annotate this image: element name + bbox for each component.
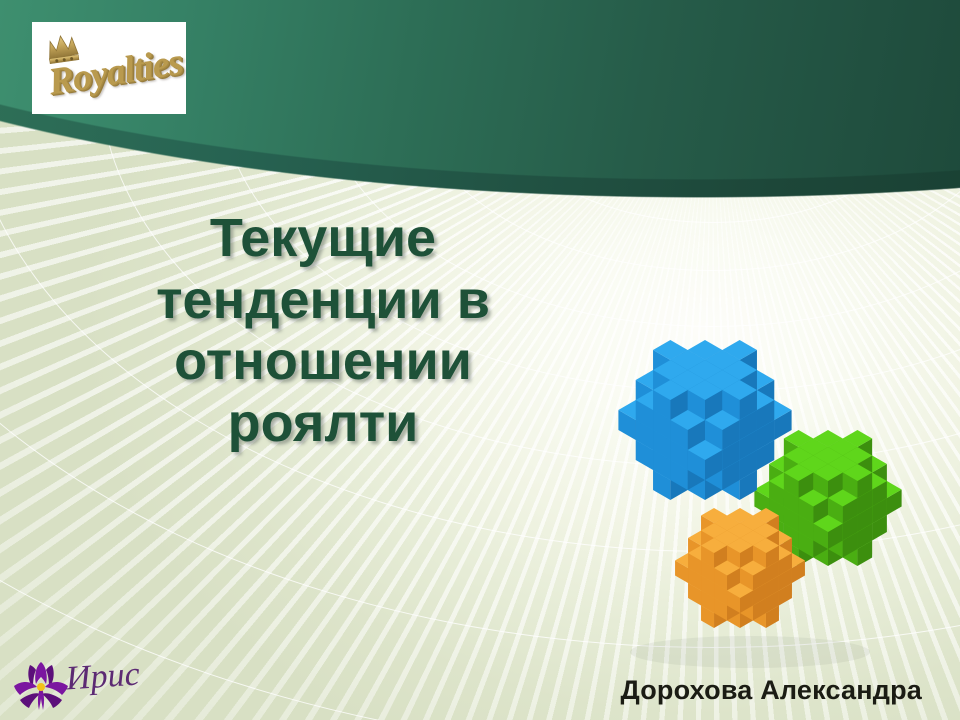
puzzle-blocks-graphic — [600, 300, 960, 672]
iris-logo[interactable]: Ирис — [10, 654, 160, 716]
royalties-logo-art: Royalties — [32, 22, 186, 114]
slide-title-line-4: роялти — [58, 393, 588, 455]
puzzle-blocks-svg — [600, 300, 960, 672]
slide-title-line-3: отношении — [58, 331, 588, 393]
iris-flower-icon — [10, 656, 72, 714]
slide-title-line-1: Текущие — [58, 208, 588, 270]
slide-title: Текущие тенденции в отношении роялти — [58, 208, 588, 454]
author-name: Дорохова Александра — [620, 675, 922, 706]
slide-title-line-2: тенденции в — [58, 270, 588, 332]
iris-logo-text: Ирис — [65, 655, 141, 698]
presentation-slide: Royalties Текущие тенденции в отношении … — [0, 0, 960, 720]
royalties-logo[interactable]: Royalties — [32, 22, 186, 114]
